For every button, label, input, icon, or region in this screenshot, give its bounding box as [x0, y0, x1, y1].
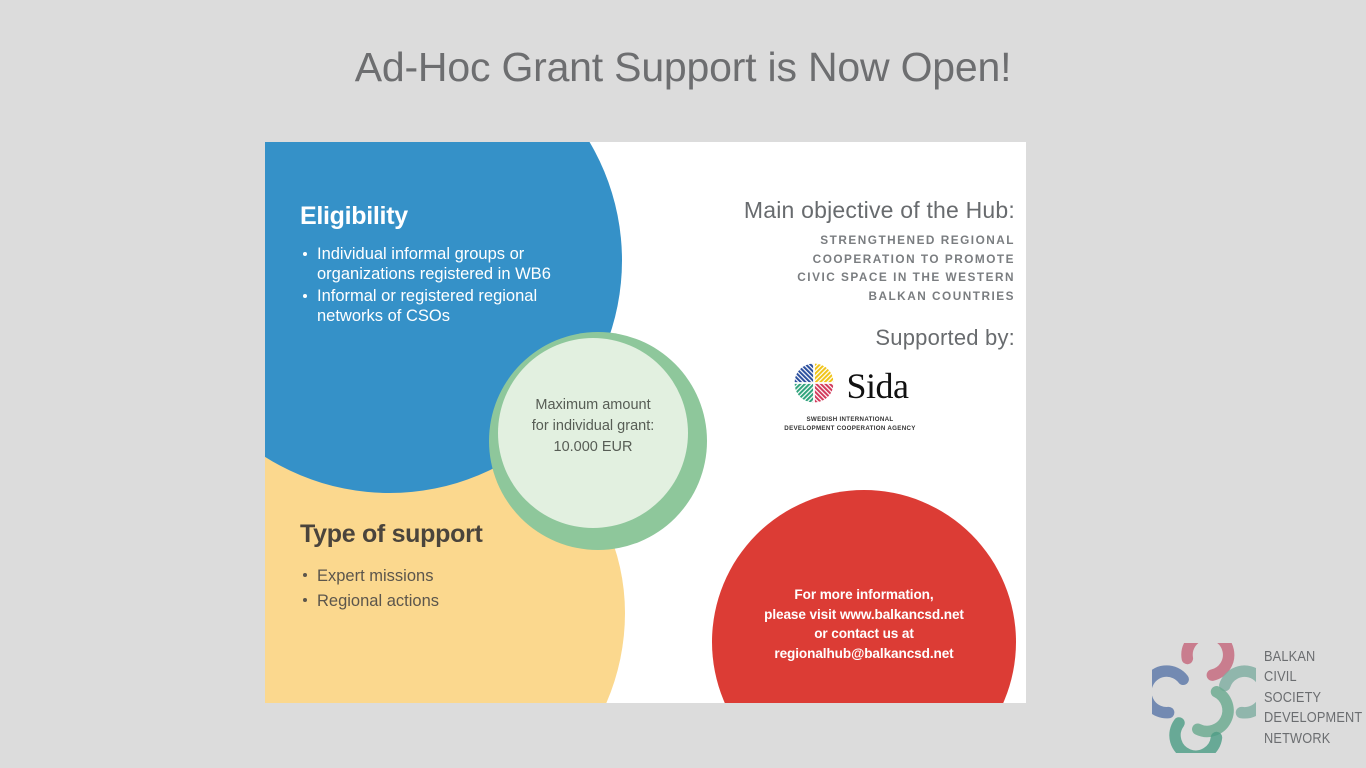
bcsdn-pinwheel-icon [1152, 643, 1256, 753]
bcsdn-line-2: CIVIL [1264, 667, 1362, 688]
contact-line-3: or contact us at [712, 624, 1016, 644]
sida-subtitle-line-1: SWEDISH INTERNATIONAL [784, 416, 915, 425]
sida-subtitle-line-2: DEVELOPMENT COOPERATION AGENCY [784, 425, 915, 434]
max-amount-text: Maximum amount for individual grant: 10.… [498, 395, 688, 458]
list-item: Regional actions [300, 590, 590, 613]
main-objective-section: Main objective of the Hub: STRENGTHENED … [635, 197, 1015, 305]
main-objective-line-4: BALKAN COUNTRIES [635, 287, 1015, 306]
infographic-panel: Eligibility Individual informal groups o… [265, 142, 1026, 703]
main-objective-line-1: STRENGTHENED REGIONAL [635, 231, 1015, 250]
list-item: Expert missions [300, 565, 590, 588]
contact-info-text: For more information, please visit www.b… [712, 585, 1016, 663]
bcsdn-logo: BALKAN CIVIL SOCIETY DEVELOPMENT NETWORK [1152, 636, 1362, 760]
bcsdn-line-1: BALKAN [1264, 647, 1362, 668]
type-of-support-bullet-list: Expert missions Regional actions [300, 565, 590, 613]
main-objective-line-2: COOPERATION TO PROMOTE [635, 250, 1015, 269]
list-item: Informal or registered regional networks… [300, 286, 600, 326]
sida-logo: Sida SWEDISH INTERNATIONAL DEVELOPMENT C… [685, 360, 1015, 433]
main-objective-heading: Main objective of the Hub: [635, 197, 1015, 224]
sida-wordmark: Sida [846, 368, 908, 404]
max-amount-line-1: Maximum amount [498, 395, 688, 416]
eligibility-heading: Eligibility [300, 202, 600, 231]
type-of-support-section: Type of support Expert missions Regional… [300, 520, 590, 615]
contact-line-2: please visit www.balkancsd.net [712, 605, 1016, 625]
sida-subtitle: SWEDISH INTERNATIONAL DEVELOPMENT COOPER… [784, 416, 915, 433]
page-title: Ad-Hoc Grant Support is Now Open! [0, 44, 1366, 91]
contact-line-1: For more information, [712, 585, 1016, 605]
bcsdn-line-3: SOCIETY [1264, 688, 1362, 709]
main-objective-line-3: CIVIC SPACE IN THE WESTERN [635, 268, 1015, 287]
eligibility-section: Eligibility Individual informal groups o… [300, 202, 600, 328]
bcsdn-line-5: NETWORK [1264, 729, 1362, 750]
main-objective-body: STRENGTHENED REGIONAL COOPERATION TO PRO… [635, 231, 1015, 305]
type-of-support-heading: Type of support [300, 520, 590, 549]
list-item: Individual informal groups or organizati… [300, 244, 600, 284]
bcsdn-wordmark: BALKAN CIVIL SOCIETY DEVELOPMENT NETWORK [1264, 647, 1362, 750]
sida-logo-row: Sida [791, 360, 908, 411]
supported-by-label: Supported by: [685, 325, 1015, 351]
max-amount-line-3: 10.000 EUR [498, 437, 688, 458]
max-amount-line-2: for individual grant: [498, 416, 688, 437]
contact-line-4: regionalhub@balkancsd.net [712, 644, 1016, 664]
eligibility-bullet-list: Individual informal groups or organizati… [300, 244, 600, 326]
bcsdn-line-4: DEVELOPMENT [1264, 708, 1362, 729]
sida-pinwheel-icon [791, 360, 837, 411]
